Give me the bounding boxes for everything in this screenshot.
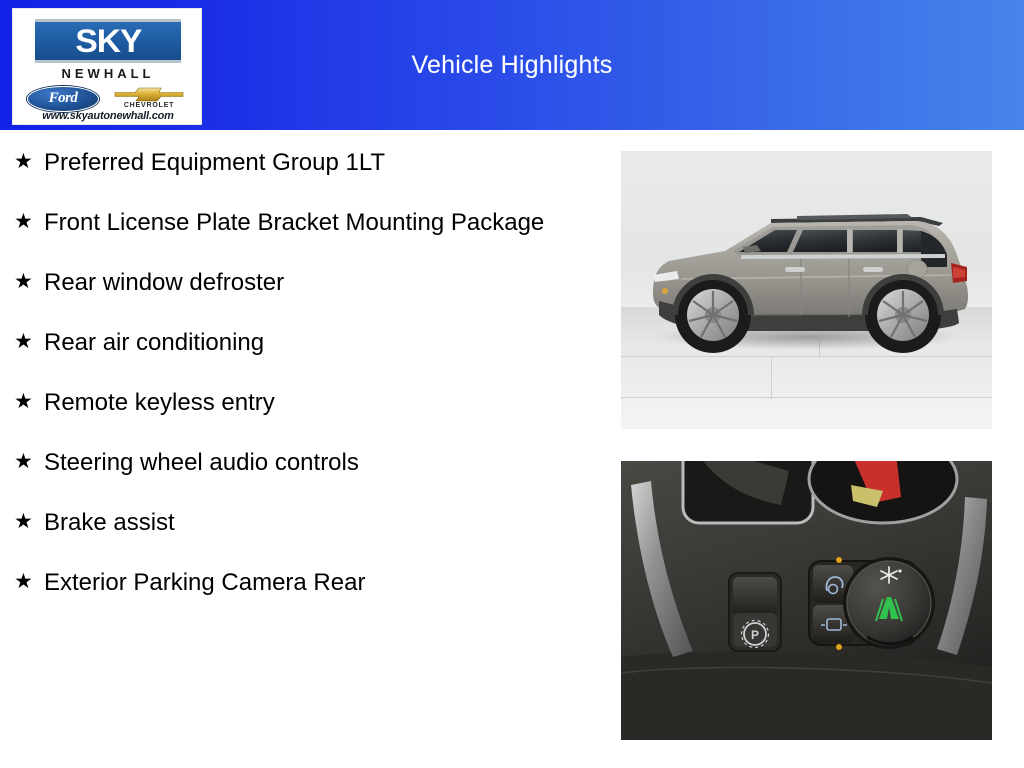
- newhall-wordmark: NEWHALL: [13, 66, 202, 81]
- sky-wordmark: SKY: [75, 25, 141, 57]
- feature-label: Remote keyless entry: [44, 386, 554, 420]
- list-item: ★ Steering wheel audio controls: [10, 446, 590, 480]
- list-item: ★ Rear window defroster: [10, 266, 590, 300]
- suv-side-profile-illustration: [621, 151, 992, 429]
- list-item: ★ Brake assist: [10, 506, 590, 540]
- feature-label: Steering wheel audio controls: [44, 446, 554, 480]
- vehicle-exterior-photo[interactable]: [621, 151, 992, 429]
- star-bullet-icon: ★: [10, 206, 44, 238]
- chevrolet-label: CHEVROLET: [109, 102, 189, 109]
- dealer-logo[interactable]: SKY NEWHALL Ford: [12, 8, 202, 125]
- feature-label: Exterior Parking Camera Rear: [44, 566, 554, 600]
- vehicle-highlights-list: ★ Preferred Equipment Group 1LT ★ Front …: [10, 146, 590, 626]
- feature-label: Rear window defroster: [44, 266, 554, 300]
- sky-plate: SKY: [35, 19, 181, 63]
- feature-label: Preferred Equipment Group 1LT: [44, 146, 554, 180]
- chevrolet-logo-icon: CHEVROLET: [109, 85, 189, 112]
- logo-inner: SKY NEWHALL Ford: [13, 9, 201, 124]
- svg-text:P: P: [751, 628, 759, 642]
- star-bullet-icon: ★: [10, 566, 44, 598]
- vehicle-interior-console-photo[interactable]: P: [621, 461, 992, 740]
- star-bullet-icon: ★: [10, 506, 44, 538]
- star-bullet-icon: ★: [10, 326, 44, 358]
- dealer-website-url[interactable]: www.skyautonewhall.com: [13, 110, 202, 122]
- center-console-illustration: P: [621, 461, 992, 740]
- chevrolet-bowtie-icon: [113, 86, 185, 102]
- list-item: ★ Exterior Parking Camera Rear: [10, 566, 590, 600]
- oem-brand-row: Ford CHEVROLET: [13, 85, 202, 112]
- slide-root: Vehicle Highlights SKY NEWHALL Ford: [0, 0, 1024, 768]
- feature-label: Rear air conditioning: [44, 326, 554, 360]
- star-bullet-icon: ★: [10, 146, 44, 178]
- star-bullet-icon: ★: [10, 266, 44, 298]
- feature-label: Brake assist: [44, 506, 554, 540]
- list-item: ★ Preferred Equipment Group 1LT: [10, 146, 590, 180]
- ford-label: Ford: [49, 90, 78, 107]
- list-item: ★ Front License Plate Bracket Mounting P…: [10, 206, 590, 240]
- star-bullet-icon: ★: [10, 386, 44, 418]
- ford-logo-icon: Ford: [27, 86, 99, 112]
- list-item: ★ Rear air conditioning: [10, 326, 590, 360]
- star-bullet-icon: ★: [10, 446, 44, 478]
- feature-label: Front License Plate Bracket Mounting Pac…: [44, 206, 554, 240]
- list-item: ★ Remote keyless entry: [10, 386, 590, 420]
